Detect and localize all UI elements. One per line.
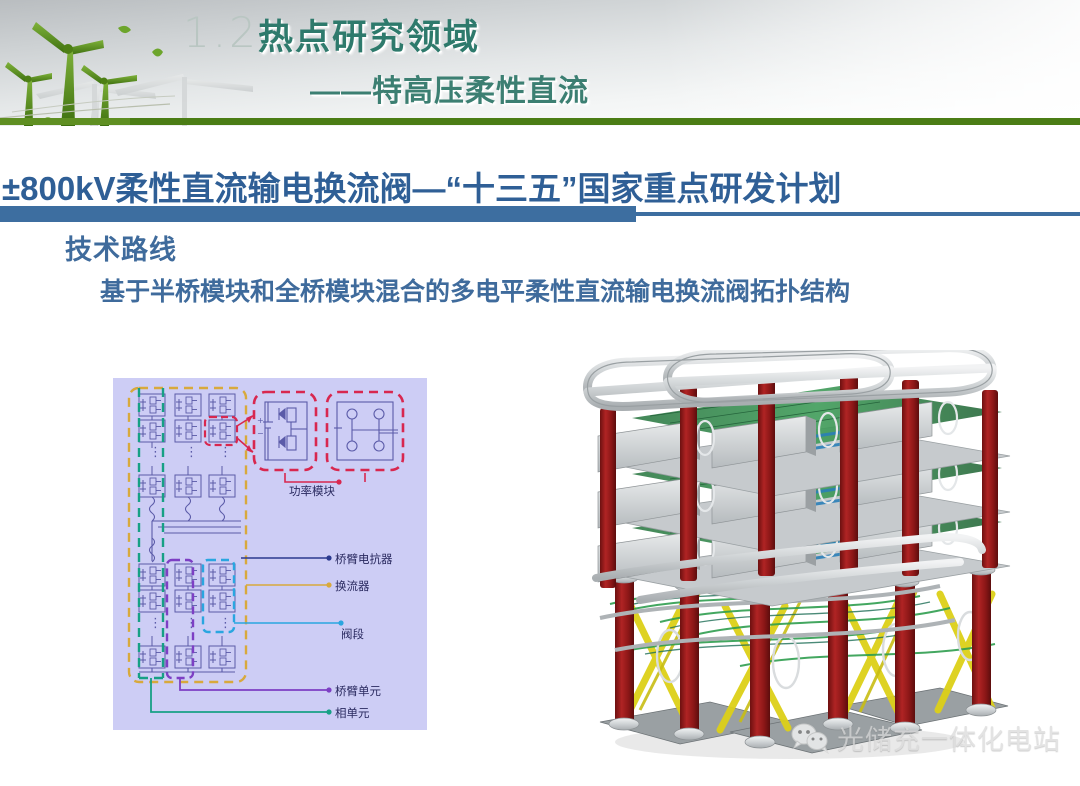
svg-text:⋮: ⋮: [185, 616, 198, 631]
topology-description: 基于半桥模块和全桥模块混合的多电平柔性直流输电换流阀拓扑结构: [100, 272, 850, 308]
leader-dot-converter: [326, 582, 331, 587]
svg-text:⋮: ⋮: [149, 616, 162, 631]
topology-diagram-panel: ⋮ ⋮ ⋮: [113, 378, 427, 730]
section-number: 1.2: [183, 8, 259, 57]
diagram-label-phase-unit: 相单元: [335, 705, 370, 721]
svg-text:⋮: ⋮: [149, 445, 162, 460]
tech-route-heading: 技术路线: [65, 228, 177, 267]
svg-text:⋮: ⋮: [219, 616, 232, 631]
watermark: 光储充一体化电站: [790, 718, 1061, 757]
converter-valve-tower-3d: [540, 350, 1020, 770]
wechat-icon: [790, 722, 830, 754]
svg-text:+: +: [257, 416, 264, 425]
svg-text:⋮: ⋮: [219, 445, 232, 460]
header-banner: 1.2 热点研究领域 ——特高压柔性直流: [0, 0, 1080, 126]
diagram-label-converter: 换流器: [335, 578, 370, 594]
diagram-label-arm-unit: 桥臂单元: [335, 683, 381, 699]
half-bridge-submodule-inset: + −: [254, 392, 316, 470]
header-gradient-overlay: [660, 0, 1080, 126]
leader-dot-phase-unit: [326, 709, 331, 714]
leader-dot-arm-reactor: [326, 555, 331, 560]
diagram-label-arm-reactor: 桥臂电抗器: [335, 551, 393, 567]
leader-dot-arm-unit: [326, 687, 331, 692]
header-green-divider-accent: [0, 118, 130, 125]
group-power-module-highlight: [205, 417, 237, 445]
leader-dot-valve-section: [338, 620, 343, 625]
title-underline-thick: [0, 206, 636, 222]
full-bridge-submodule-inset: [327, 392, 403, 470]
svg-text:−: −: [257, 429, 264, 438]
header-subtitle: ——特高压柔性直流: [310, 66, 589, 110]
svg-text:⋮: ⋮: [185, 445, 198, 460]
diagram-label-valve-section: 阀段: [341, 626, 364, 642]
header-title: 热点研究领域: [258, 9, 480, 60]
leader-dot-power-module: [336, 479, 341, 484]
header-green-divider: [0, 118, 1080, 125]
watermark-text: 光储充一体化电站: [837, 718, 1061, 757]
page-title: ±800kV柔性直流输电换流阀—“十三五”国家重点研发计划: [2, 162, 842, 210]
diagram-label-power-module: 功率模块: [289, 483, 335, 499]
